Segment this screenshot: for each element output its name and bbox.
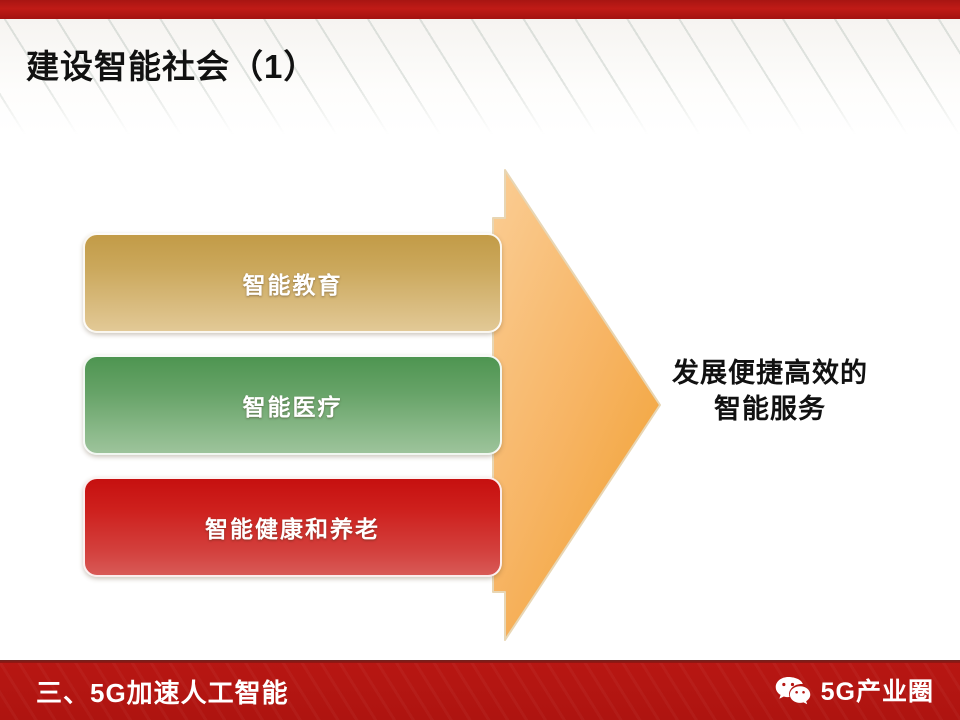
- wechat-icon: [774, 675, 812, 705]
- flow-box-label: 智能教育: [243, 266, 343, 300]
- outcome-text: 发展便捷高效的 智能服务: [645, 356, 895, 428]
- footer-section-label: 三、5G加速人工智能: [36, 673, 289, 710]
- flow-box-health-elderly-care[interactable]: 智能健康和养老: [83, 477, 502, 577]
- brand-name: 5G产业圈: [821, 672, 934, 708]
- bottom-bar-top-edge: [0, 660, 960, 663]
- flow-box-education[interactable]: 智能教育: [83, 233, 502, 333]
- flow-box-label: 智能健康和养老: [205, 510, 380, 544]
- presentation-slide: 建设智能社会（1） 智能教育 智能医疗: [0, 0, 960, 720]
- flow-box-label: 智能医疗: [243, 388, 343, 422]
- outcome-line-1: 发展便捷高效的: [645, 356, 895, 392]
- brand-watermark: 5G产业圈: [774, 672, 934, 708]
- flow-box-healthcare[interactable]: 智能医疗: [83, 355, 502, 455]
- page-title: 建设智能社会（1）: [26, 40, 317, 88]
- outcome-line-2: 智能服务: [645, 392, 895, 428]
- top-red-bar: [0, 0, 960, 19]
